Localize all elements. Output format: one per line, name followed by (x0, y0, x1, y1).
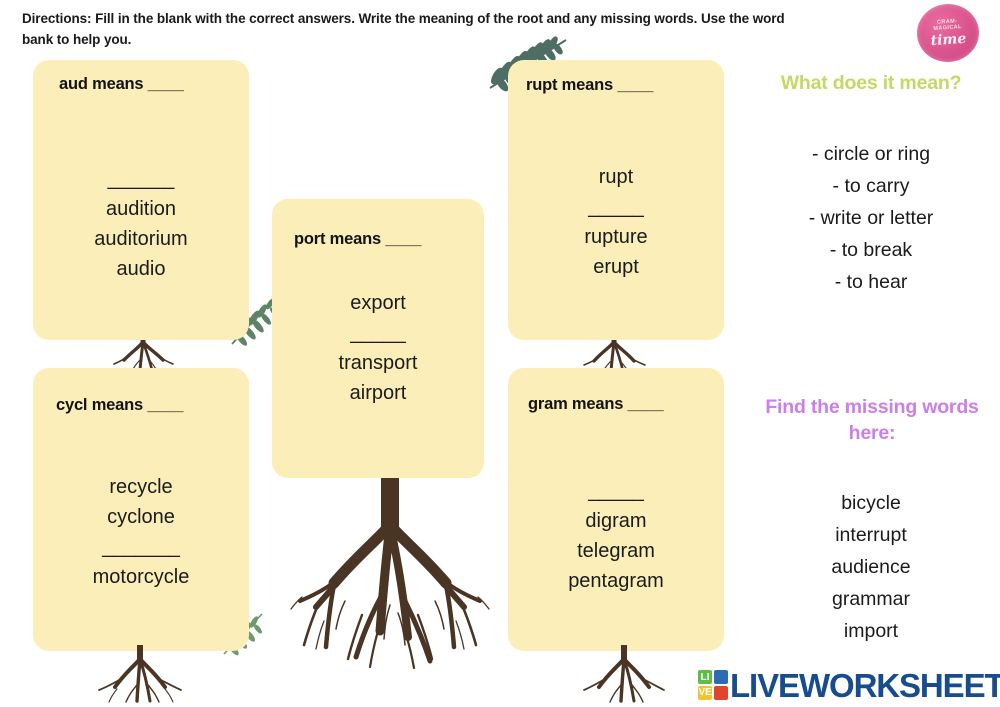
card-line: airport (272, 378, 484, 408)
card-line: audio (33, 254, 249, 284)
meaning-item: - to hear (745, 266, 997, 298)
card-title-aud: aud means ____ (59, 75, 184, 94)
card-line: telegram (508, 536, 724, 566)
root-tuft-icon (95, 645, 185, 703)
root-tuft-icon (580, 645, 668, 703)
meanings-list: - circle or ring - to carry - write or l… (745, 138, 997, 298)
card-line: _____ (272, 318, 484, 348)
logo-tile-blank-1 (714, 670, 728, 684)
card-body-gram: _____ digram telegram pentagram (508, 476, 724, 596)
liveworksheets-wordmark: LIVEWORKSHEETS (730, 669, 1000, 702)
directions-separator: : (87, 11, 95, 26)
card-body-cycl: recycle cyclone _______ motorcycle (33, 472, 249, 592)
card-line: _______ (33, 532, 249, 562)
liveworksheets-logo: LI VE LIVEWORKSHEETS (698, 665, 998, 705)
card-body-port: export _____ transport airport (272, 288, 484, 408)
meanings-heading: What does it mean? (745, 70, 997, 96)
liveworksheets-grid-icon: LI VE (698, 670, 728, 700)
card-line: digram (508, 506, 724, 536)
meaning-item: - to carry (745, 170, 997, 202)
meaning-item: - circle or ring (745, 138, 997, 170)
card-line: _____ (508, 192, 724, 222)
card-line: recycle (33, 472, 249, 502)
card-body-aud: ______ audition auditorium audio (33, 164, 249, 284)
logo-tile-ve: VE (698, 686, 712, 700)
cram-magical-time-stamp-logo: CRAM- MAGICAL time (915, 2, 981, 64)
root-card-gram[interactable]: gram means ____ _____ digram telegram pe… (508, 368, 724, 651)
wordbank-item: bicycle (745, 487, 997, 519)
card-line: rupt (508, 162, 724, 192)
card-title-cycl: cycl means ____ (56, 396, 183, 415)
card-line: motorcycle (33, 562, 249, 592)
root-card-port[interactable]: port means ____ export _____ transport a… (272, 199, 484, 478)
card-title-gram: gram means ____ (528, 395, 664, 414)
card-line: erupt (508, 252, 724, 282)
wordbank-item: interrupt (745, 519, 997, 551)
stamp-line-3: time (930, 31, 966, 47)
root-card-aud[interactable]: aud means ____ ______ audition auditoriu… (33, 60, 249, 340)
directions-body: Fill in the blank with the correct answe… (22, 11, 785, 47)
logo-tile-li: LI (698, 670, 712, 684)
root-card-cycl[interactable]: cycl means ____ recycle cyclone _______ … (33, 368, 249, 651)
wordbank-item: import (745, 615, 997, 647)
directions-label: Directions (22, 11, 87, 26)
directions-text: Directions: Fill in the blank with the c… (22, 8, 802, 50)
wordbank-item: grammar (745, 583, 997, 615)
meaning-item: - to break (745, 234, 997, 266)
card-title-rupt: rupt means ____ (526, 76, 653, 95)
tree-root-system-icon (290, 455, 490, 670)
meaning-item: - write or letter (745, 202, 997, 234)
card-title-port: port means ____ (294, 230, 421, 249)
card-line: export (272, 288, 484, 318)
wordbank-list: bicycle interrupt audience grammar impor… (745, 487, 997, 647)
worksheet-canvas: Directions: Fill in the blank with the c… (0, 0, 1000, 707)
card-line: transport (272, 348, 484, 378)
wordbank-heading: Find the missing words here: (748, 394, 996, 446)
card-body-rupt: rupt _____ rupture erupt (508, 162, 724, 282)
card-line: rupture (508, 222, 724, 252)
card-line: ______ (33, 164, 249, 194)
card-line: pentagram (508, 566, 724, 596)
card-line: cyclone (33, 502, 249, 532)
logo-tile-blank-2 (714, 686, 728, 700)
card-line: _____ (508, 476, 724, 506)
card-line: auditorium (33, 224, 249, 254)
wordbank-item: audience (745, 551, 997, 583)
card-line: audition (33, 194, 249, 224)
root-card-rupt[interactable]: rupt means ____ rupt _____ rupture erupt (508, 60, 724, 340)
